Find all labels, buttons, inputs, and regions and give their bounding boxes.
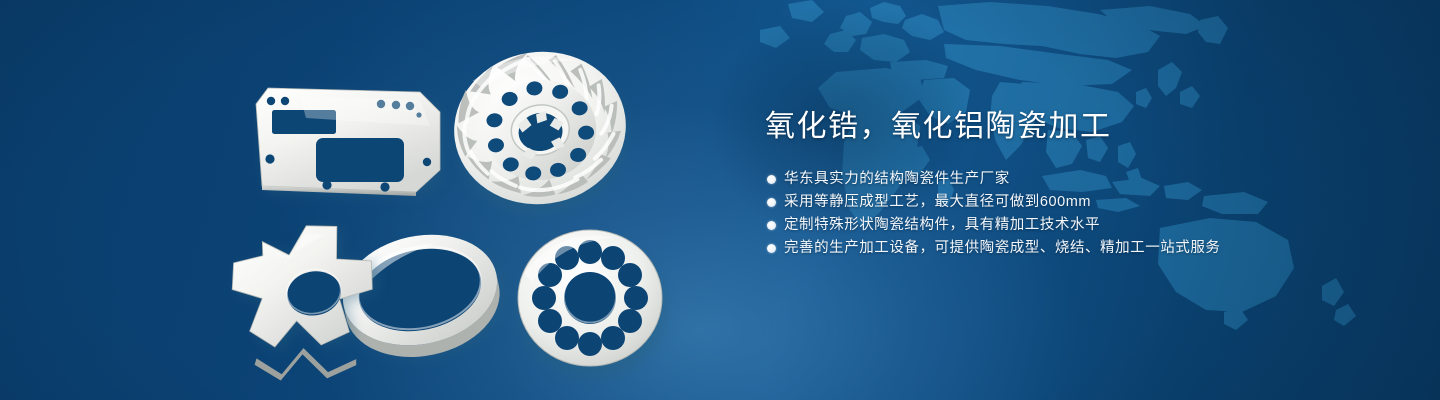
- bullet-item: 定制特殊形状陶瓷结构件，具有精加工技术水平: [765, 214, 1405, 237]
- bullet-item: 采用等静压成型工艺，最大直径可做到600mm: [765, 191, 1405, 214]
- bullet-item: 完善的生产加工设备，可提供陶瓷成型、烧结、精加工一站式服务: [765, 237, 1405, 260]
- promo-banner: 氧化锆，氧化铝陶瓷加工 华东具实力的结构陶瓷件生产厂家 采用等静压成型工艺，最大…: [0, 0, 1440, 400]
- bullet-text: 采用等静压成型工艺，最大直径可做到600mm: [784, 191, 1091, 214]
- bullet-text: 完善的生产加工设备，可提供陶瓷成型、烧结、精加工一站式服务: [784, 237, 1220, 260]
- banner-copy: 氧化锆，氧化铝陶瓷加工 华东具实力的结构陶瓷件生产厂家 采用等静压成型工艺，最大…: [765, 108, 1405, 260]
- ceramic-plate-part: [256, 88, 442, 196]
- ceramic-products-image: [0, 0, 760, 400]
- banner-bullet-list: 华东具实力的结构陶瓷件生产厂家 采用等静压成型工艺，最大直径可做到600mm 定…: [765, 168, 1405, 260]
- ceramic-impeller-part: [444, 41, 637, 225]
- bullet-text: 华东具实力的结构陶瓷件生产厂家: [784, 168, 1010, 191]
- bullet-item: 华东具实力的结构陶瓷件生产厂家: [765, 168, 1405, 191]
- bullet-dot-icon: [767, 175, 776, 184]
- ceramic-perforated-disc-part: [518, 230, 666, 378]
- bullet-text: 定制特殊形状陶瓷结构件，具有精加工技术水平: [784, 214, 1100, 237]
- banner-headline: 氧化锆，氧化铝陶瓷加工: [765, 108, 1405, 146]
- bullet-dot-icon: [767, 221, 776, 230]
- bullet-dot-icon: [767, 198, 776, 207]
- bullet-dot-icon: [767, 244, 776, 253]
